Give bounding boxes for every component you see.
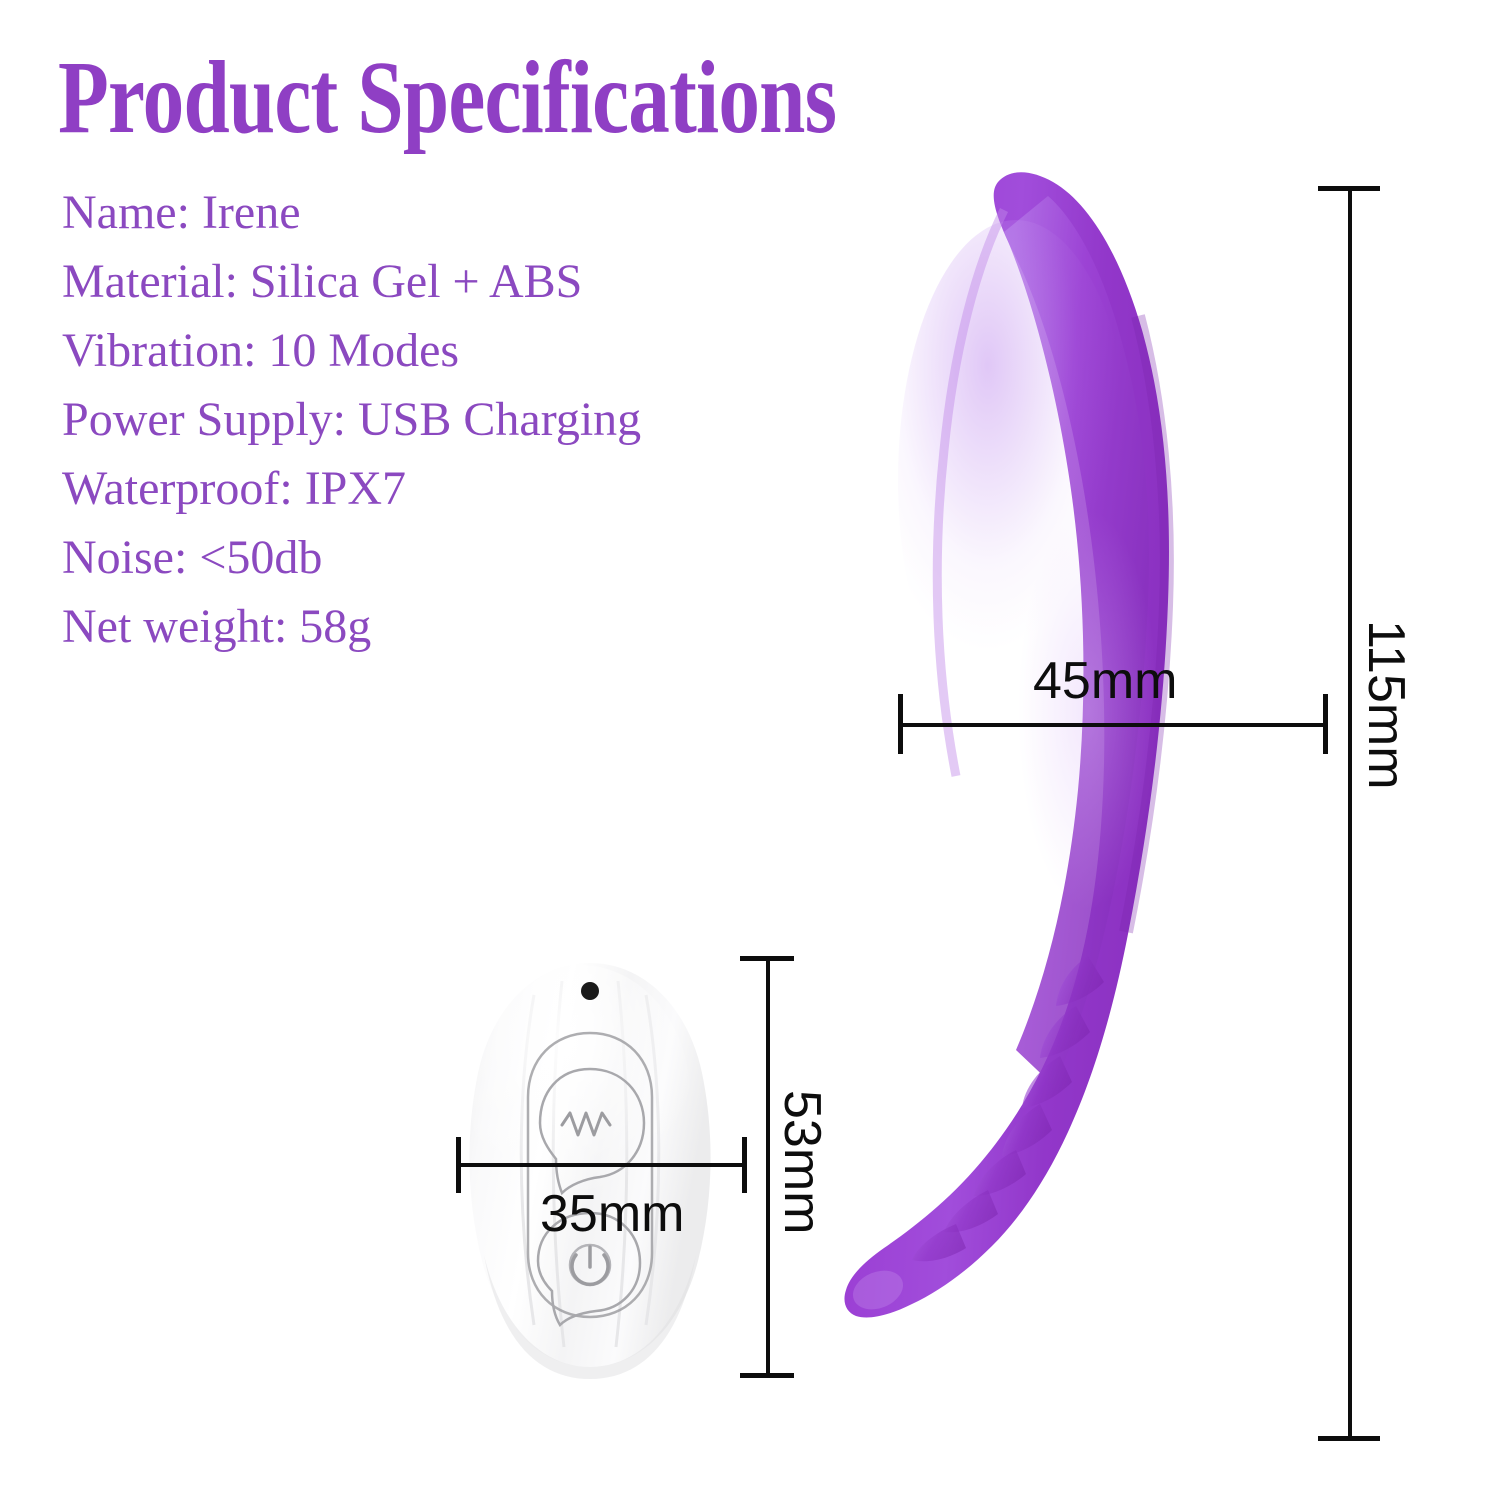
dim-cap-right-35mm	[742, 1137, 747, 1193]
page-title: Product Specifications	[58, 46, 836, 150]
dim-cap-top-53mm	[740, 956, 794, 961]
dim-cap-bottom-115mm	[1318, 1436, 1380, 1441]
dim-cap-left-35mm	[456, 1137, 461, 1193]
dim-cap-right-45mm	[1323, 694, 1328, 754]
spec-row-noise: Noise: <50db	[62, 523, 882, 592]
dim-cap-top-115mm	[1318, 186, 1380, 191]
dim-cap-left-45mm	[898, 694, 903, 754]
dim-label-115mm: 115mm	[1360, 620, 1412, 790]
dim-label-35mm: 35mm	[540, 1188, 684, 1240]
product-image-vibrator	[820, 150, 1280, 1470]
spec-row-material: Material: Silica Gel + ABS	[62, 247, 882, 316]
led-indicator-icon	[581, 982, 599, 1000]
specification-list: Name: Irene Material: Silica Gel + ABS V…	[62, 178, 882, 661]
dim-label-45mm: 45mm	[1033, 655, 1177, 707]
spec-row-net-weight: Net weight: 58g	[62, 592, 882, 661]
product-specification-image: Product Specifications Name: Irene Mater…	[0, 0, 1500, 1500]
dim-cap-bottom-53mm	[740, 1373, 794, 1378]
dim-line-115mm	[1348, 188, 1352, 1440]
spec-row-waterproof: Waterproof: IPX7	[62, 454, 882, 523]
remote-control-image	[430, 955, 750, 1405]
spec-row-power-supply: Power Supply: USB Charging	[62, 385, 882, 454]
dim-label-53mm: 53mm	[776, 1090, 828, 1234]
dim-line-35mm	[458, 1163, 746, 1167]
spec-row-vibration: Vibration: 10 Modes	[62, 316, 882, 385]
dim-line-45mm	[900, 723, 1328, 727]
spec-row-name: Name: Irene	[62, 178, 882, 247]
dim-line-53mm	[766, 958, 770, 1378]
